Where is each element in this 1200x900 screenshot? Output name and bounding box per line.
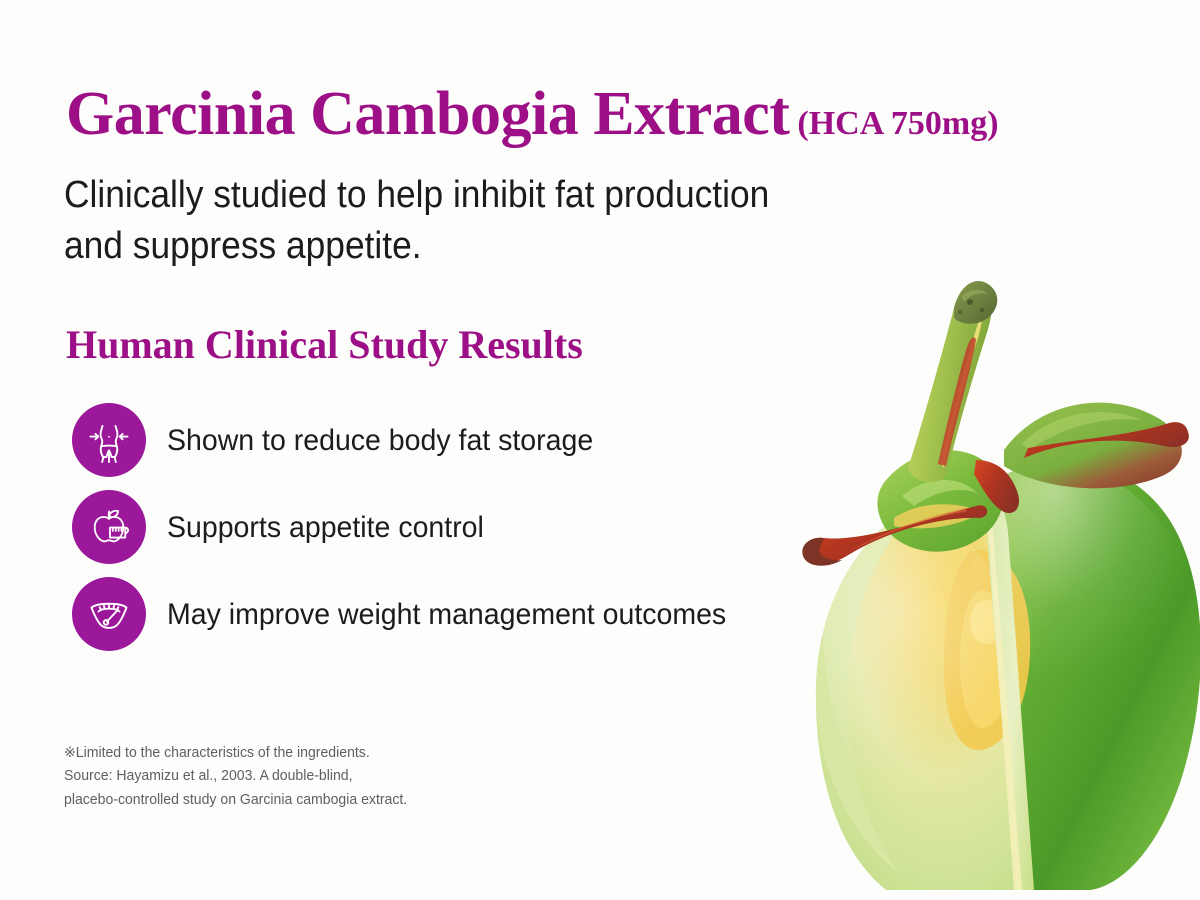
section-heading: Human Clinical Study Results: [66, 325, 583, 365]
slim-waist-icon: [72, 403, 146, 477]
list-item: Supports appetite control: [72, 490, 832, 564]
title-main-text: Garcinia Cambogia Extract: [66, 80, 789, 148]
footnote-line-3: placebo-controlled study on Garcinia cam…: [64, 789, 407, 812]
footnote-line-2: Source: Hayamizu et al., 2003. A double-…: [64, 765, 407, 788]
list-item-label: Supports appetite control: [167, 511, 484, 544]
list-item-label: May improve weight management outcomes: [167, 598, 726, 631]
subheadline-line-2: and suppress appetite.: [64, 221, 771, 272]
apple-measuring-tape-icon: [72, 490, 146, 564]
fruit-yellow-core: [944, 550, 1030, 750]
garcinia-cambogia-fruit-photo: [790, 250, 1200, 890]
fruit-cut-flesh: [816, 488, 1024, 890]
list-item: May improve weight management outcomes: [72, 577, 832, 651]
subheadline: Clinically studied to help inhibit fat p…: [64, 170, 771, 271]
fruit-rind-band: [986, 490, 1034, 890]
list-item: Shown to reduce body fat storage: [72, 403, 832, 477]
weight-gauge-icon: [72, 577, 146, 651]
fruit-sepal-hook: [974, 460, 1019, 513]
fruit-left-lobe: [877, 450, 1003, 551]
footnote: ※Limited to the characteristics of the i…: [64, 742, 407, 812]
list-item-label: Shown to reduce body fat storage: [167, 424, 593, 457]
fruit-sepal-strap-right: [1024, 422, 1189, 458]
fruit-sepal-leaf: [1004, 403, 1182, 489]
infographic-page: Garcinia Cambogia Extract(HCA 750mg) Cli…: [0, 0, 1200, 900]
title-dosage-text: (HCA 750mg): [797, 105, 998, 142]
subheadline-line-1: Clinically studied to help inhibit fat p…: [64, 174, 769, 216]
footnote-line-1: ※Limited to the characteristics of the i…: [64, 742, 407, 765]
benefit-list: Shown to reduce body fat storage: [72, 403, 832, 664]
fruit-right-lobe: [986, 461, 1200, 890]
fruit-stem: [908, 281, 997, 482]
page-title: Garcinia Cambogia Extract(HCA 750mg): [66, 83, 1166, 145]
content-column: Garcinia Cambogia Extract(HCA 750mg) Cli…: [0, 0, 840, 900]
